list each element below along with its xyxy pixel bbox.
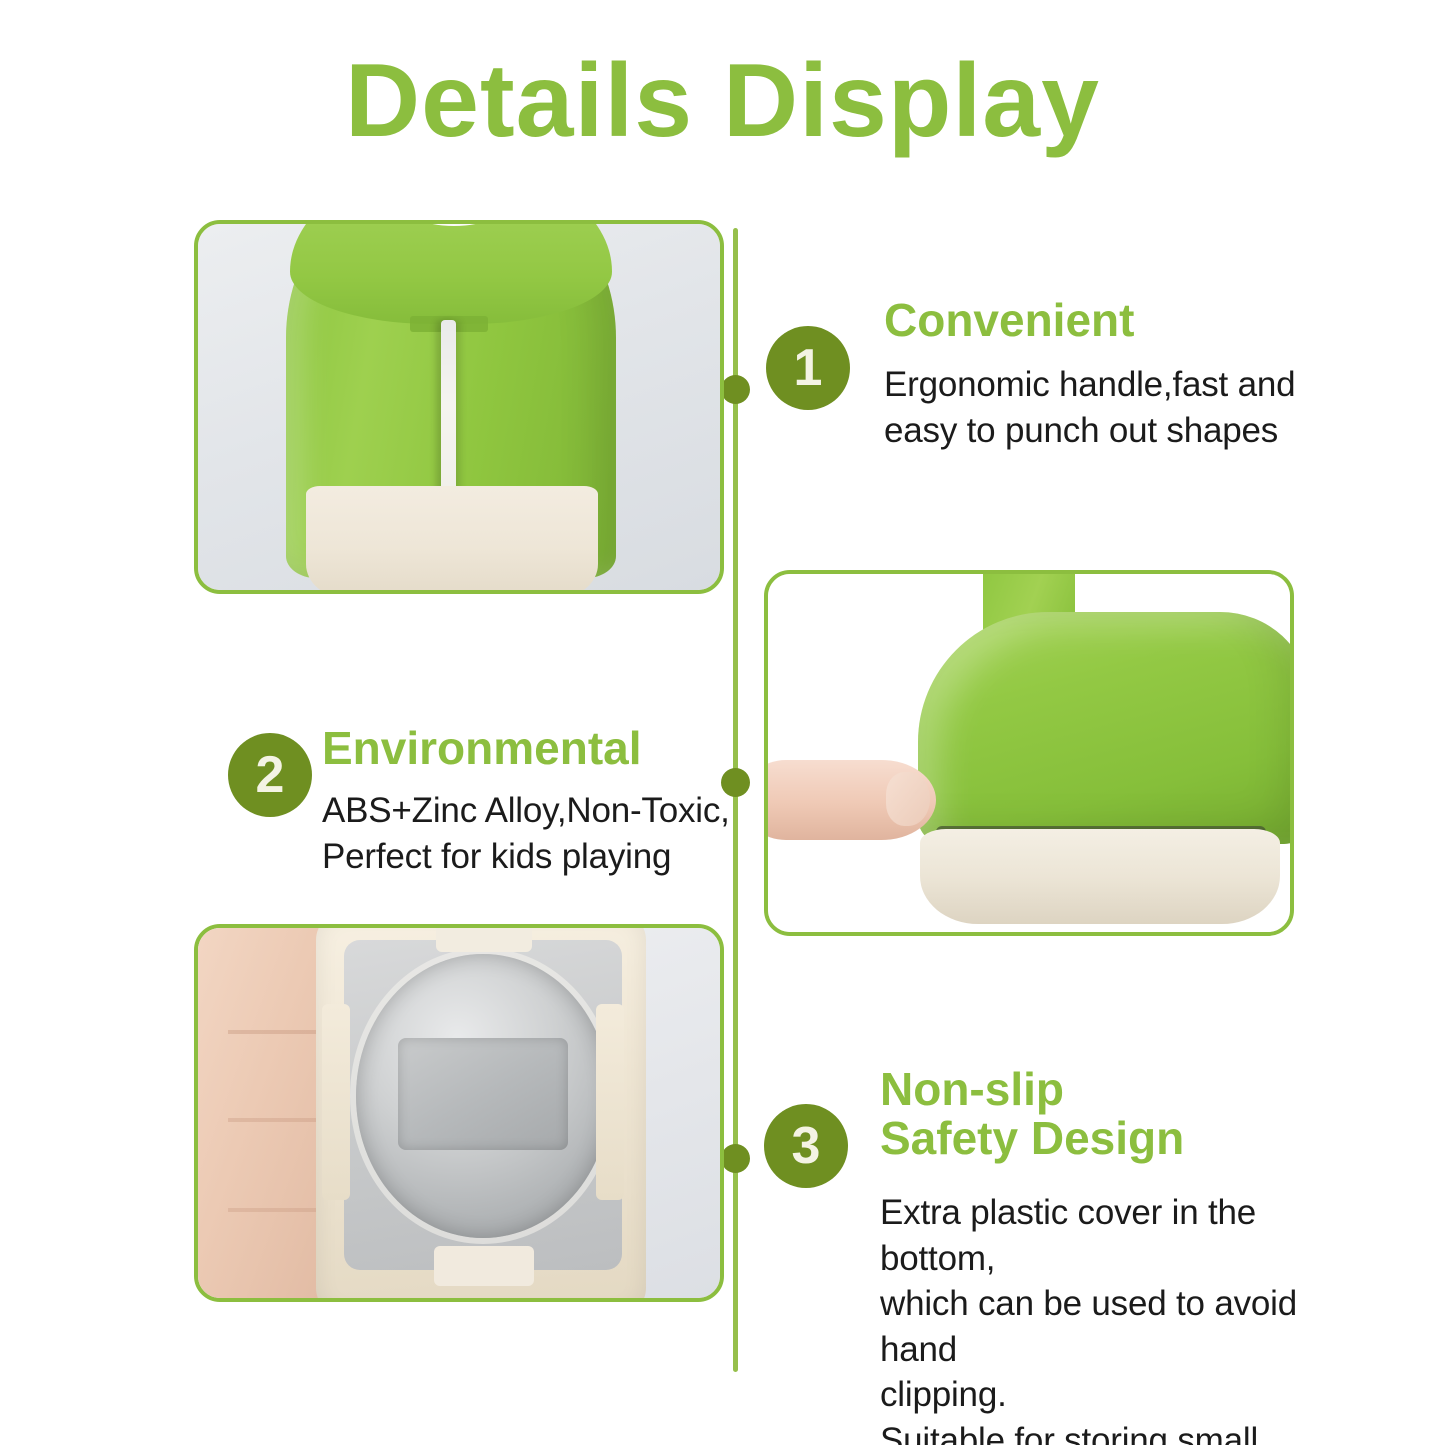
feature-badge-2: 2 [228, 733, 312, 817]
feature-badge-1: 1 [766, 326, 850, 410]
feature-body-3: Extra plastic cover in the bottom, which… [880, 1190, 1350, 1445]
housing-tab-top [436, 928, 532, 952]
details-display-page: Details Display [0, 0, 1445, 1445]
feature-body-2: ABS+Zinc Alloy,Non-Toxic, Perfect for ki… [322, 788, 742, 879]
page-title: Details Display [0, 44, 1445, 158]
feature-badge-3: 3 [764, 1104, 848, 1188]
feature-heading-3: Non-slip Safety Design [880, 1065, 1184, 1163]
product-photo-finger-press [764, 570, 1294, 936]
timeline-dot-1 [721, 375, 750, 404]
punch-green-cap [290, 224, 612, 324]
punch-cream-base [306, 486, 598, 590]
punch-plastic-cover [920, 829, 1280, 924]
feature-heading-1: Convenient [884, 296, 1134, 345]
photo-3-content [198, 928, 720, 1298]
photo-2-content [768, 574, 1290, 932]
metal-die-plate [398, 1038, 568, 1150]
fingernail [886, 772, 930, 826]
photo-1-content [198, 224, 720, 590]
feature-body-1: Ergonomic handle,fast and easy to punch … [884, 362, 1314, 453]
product-photo-underside-die [194, 924, 724, 1302]
timeline-dot-3 [721, 1144, 750, 1173]
feature-heading-2: Environmental [322, 724, 642, 773]
housing-rib-left [322, 1004, 350, 1200]
punch-dome-body [918, 612, 1290, 844]
product-photo-punch-handle [194, 220, 724, 594]
housing-tab-bottom [434, 1246, 534, 1286]
housing-rib-right [596, 1004, 624, 1200]
